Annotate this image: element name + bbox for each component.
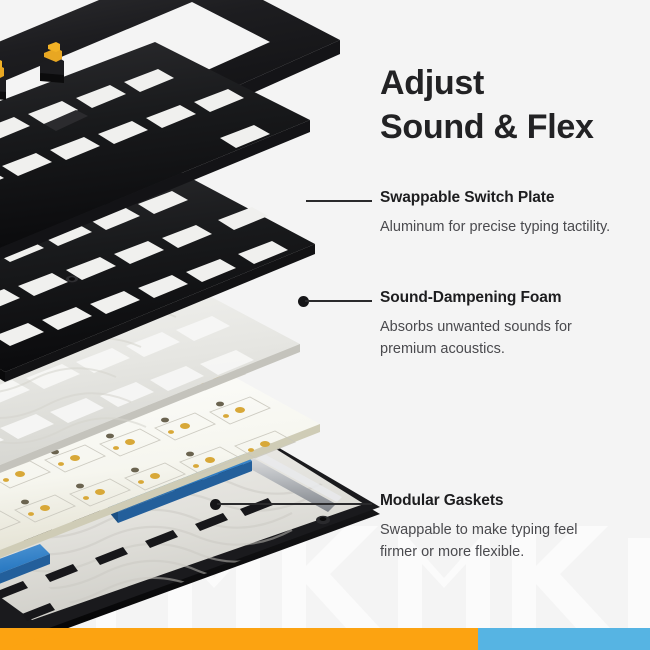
callout-body: Swappable to make typing feel firmer or …: [380, 519, 615, 563]
callout-modular-gaskets: Modular Gaskets Swappable to make typing…: [380, 491, 615, 563]
exploded-keyboard-illustration: [0, 0, 380, 642]
bottom-accent-bar: [0, 628, 650, 650]
callout-body: Aluminum for precise typing tactility.: [380, 216, 615, 238]
page-title: Adjust Sound & Flex: [380, 62, 645, 149]
title-line-1: Adjust: [380, 62, 645, 106]
callout-sound-dampening-foam: Sound-Dampening Foam Absorbs unwanted so…: [380, 288, 615, 360]
keyboard-layers-svg: [0, 0, 380, 642]
title-line-2: Sound & Flex: [380, 106, 645, 150]
callout-title: Sound-Dampening Foam: [380, 288, 615, 309]
callout-title: Swappable Switch Plate: [380, 188, 615, 209]
callout-title: Modular Gaskets: [380, 491, 615, 512]
infographic-canvas: Adjust Sound & Flex Swappable Switch Pla…: [0, 0, 650, 650]
accent-bar-blue: [478, 628, 650, 650]
callout-body: Absorbs unwanted sounds for premium acou…: [380, 316, 615, 360]
callout-swappable-switch-plate: Swappable Switch Plate Aluminum for prec…: [380, 188, 615, 238]
